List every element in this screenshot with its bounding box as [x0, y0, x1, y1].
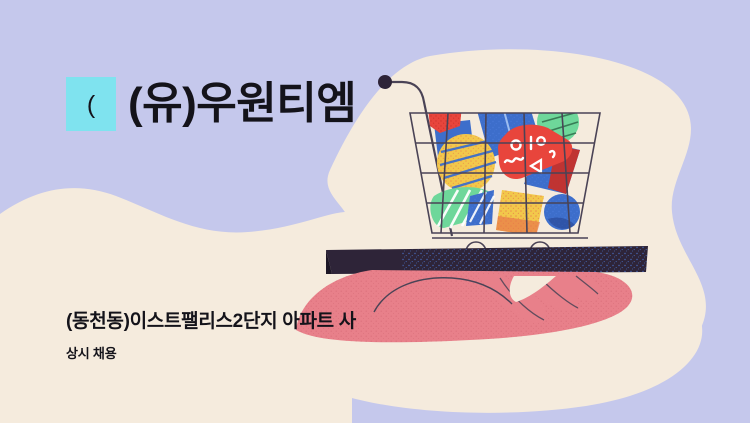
item-orange-yellow-square: [496, 190, 544, 236]
item-green-striped-circle: [537, 101, 579, 143]
brand-highlight-char: (: [87, 93, 95, 118]
item-blue-red-square-tilted: [524, 140, 580, 194]
item-blue-gift-box: [473, 84, 540, 158]
item-blue-dotted-circle: [544, 194, 580, 230]
company-name: (유)우원티엠: [128, 82, 356, 126]
platform-slab: [326, 246, 648, 274]
finger-1: [544, 274, 600, 301]
cart-wheel-left: [466, 242, 486, 252]
cart-basket-outline: [410, 113, 600, 233]
cream-blob-foreground: [296, 318, 702, 413]
job-posting-card: ( (유)우원티엠 (동천동)이스트팰리스2단지 아파트 사 상시 채용: [0, 0, 750, 423]
cart-basket: [410, 113, 600, 233]
job-subline: 상시 채용: [66, 343, 116, 362]
item-green-striped-leaf: [430, 187, 493, 228]
finger-2: [512, 274, 578, 311]
cart-wheel-right: [530, 242, 550, 252]
cream-blob: [318, 49, 706, 395]
cart-items: [428, 84, 580, 236]
item-yellow-striped-circle: [437, 134, 496, 192]
item-red-memphis-blob: [498, 125, 572, 179]
job-headline: (동천동)이스트팰리스2단지 아파트 사: [66, 306, 356, 333]
cart-handle-knob: [378, 75, 392, 89]
item-blue-striped-wedge: [466, 190, 494, 226]
finger-3: [478, 274, 546, 323]
cart-handle: [388, 82, 452, 236]
brand-row: ( (유)우원티엠: [66, 72, 356, 136]
brand-highlight-box: (: [66, 77, 116, 131]
gift-bow: [500, 73, 526, 102]
thumb-crease: [374, 278, 512, 312]
item-red-blue-torn-paper: [428, 105, 474, 157]
